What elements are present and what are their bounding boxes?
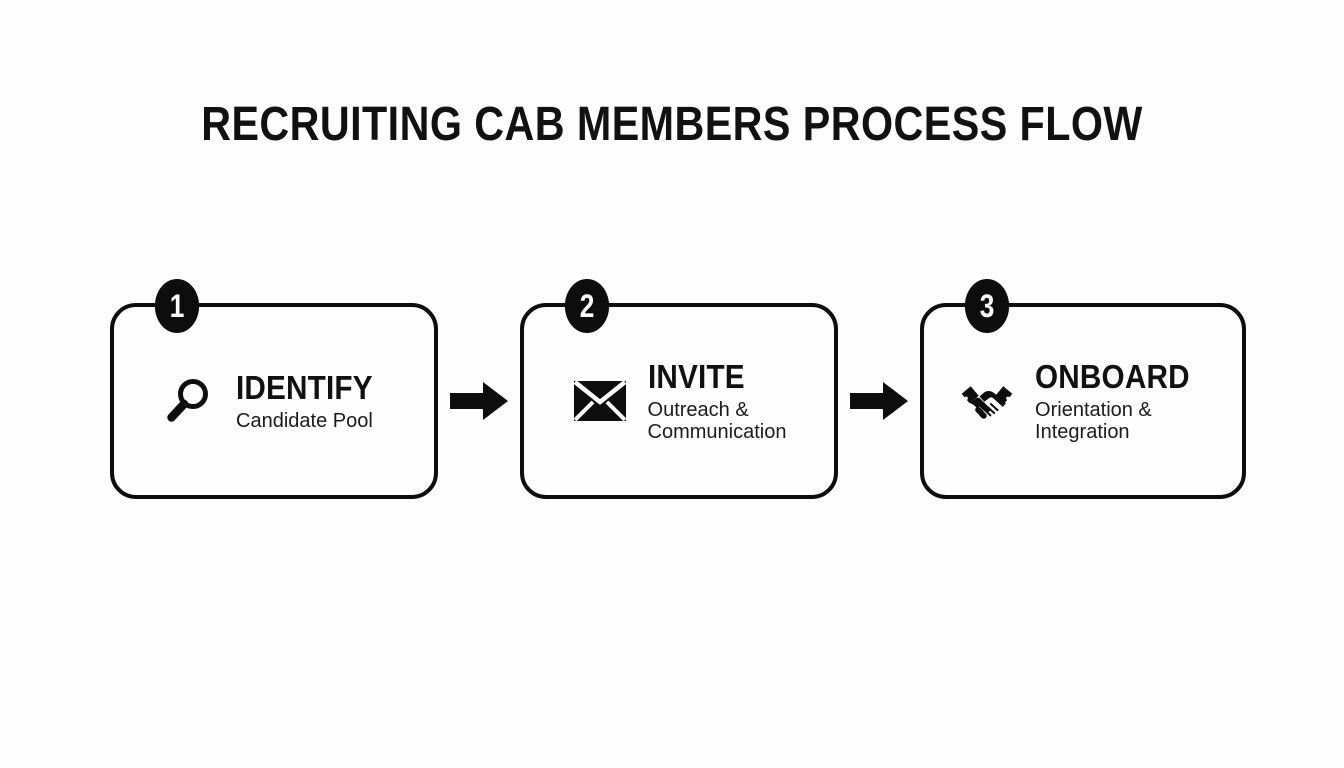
handshake-icon xyxy=(959,373,1015,429)
step-subtitle-2: Outreach & Communication xyxy=(648,399,787,443)
step-title-1: IDENTIFY xyxy=(236,371,373,404)
step-subtitle-3: Orientation & Integration xyxy=(1035,399,1152,443)
process-step-3[interactable]: 3 xyxy=(920,303,1246,499)
step-text-1: IDENTIFY Candidate Pool xyxy=(236,371,388,432)
arrow-right-icon-1 xyxy=(438,381,520,421)
arrow-right-icon-2 xyxy=(838,381,920,421)
step-content-2: INVITE Outreach & Communication xyxy=(558,360,801,443)
step-text-2: INVITE Outreach & Communication xyxy=(648,360,787,443)
process-step-2[interactable]: 2 INVITE Outreach & Communication xyxy=(520,303,838,499)
step-content-1: IDENTIFY Candidate Pool xyxy=(146,371,402,432)
step-title-2: INVITE xyxy=(648,360,745,393)
magnifier-icon xyxy=(160,373,216,429)
envelope-icon xyxy=(572,373,628,429)
page-title: RECRUITING CAB MEMBERS PROCESS FLOW xyxy=(94,101,1250,149)
step-content-3: ONBOARD Orientation & Integration xyxy=(945,360,1221,443)
step-number-badge-1: 1 xyxy=(155,279,199,333)
step-number-badge-2: 2 xyxy=(565,279,609,333)
step-subtitle-1: Candidate Pool xyxy=(236,410,373,432)
diagram-canvas: RECRUITING CAB MEMBERS PROCESS FLOW 1 ID… xyxy=(0,0,1344,768)
step-number-badge-3: 3 xyxy=(965,279,1009,333)
process-step-1[interactable]: 1 IDENTIFY Candidate Pool xyxy=(110,303,438,499)
step-text-3: ONBOARD Orientation & Integration xyxy=(1035,360,1207,443)
process-flow: 1 IDENTIFY Candidate Pool xyxy=(110,303,1240,499)
step-title-3: ONBOARD xyxy=(1035,360,1190,393)
